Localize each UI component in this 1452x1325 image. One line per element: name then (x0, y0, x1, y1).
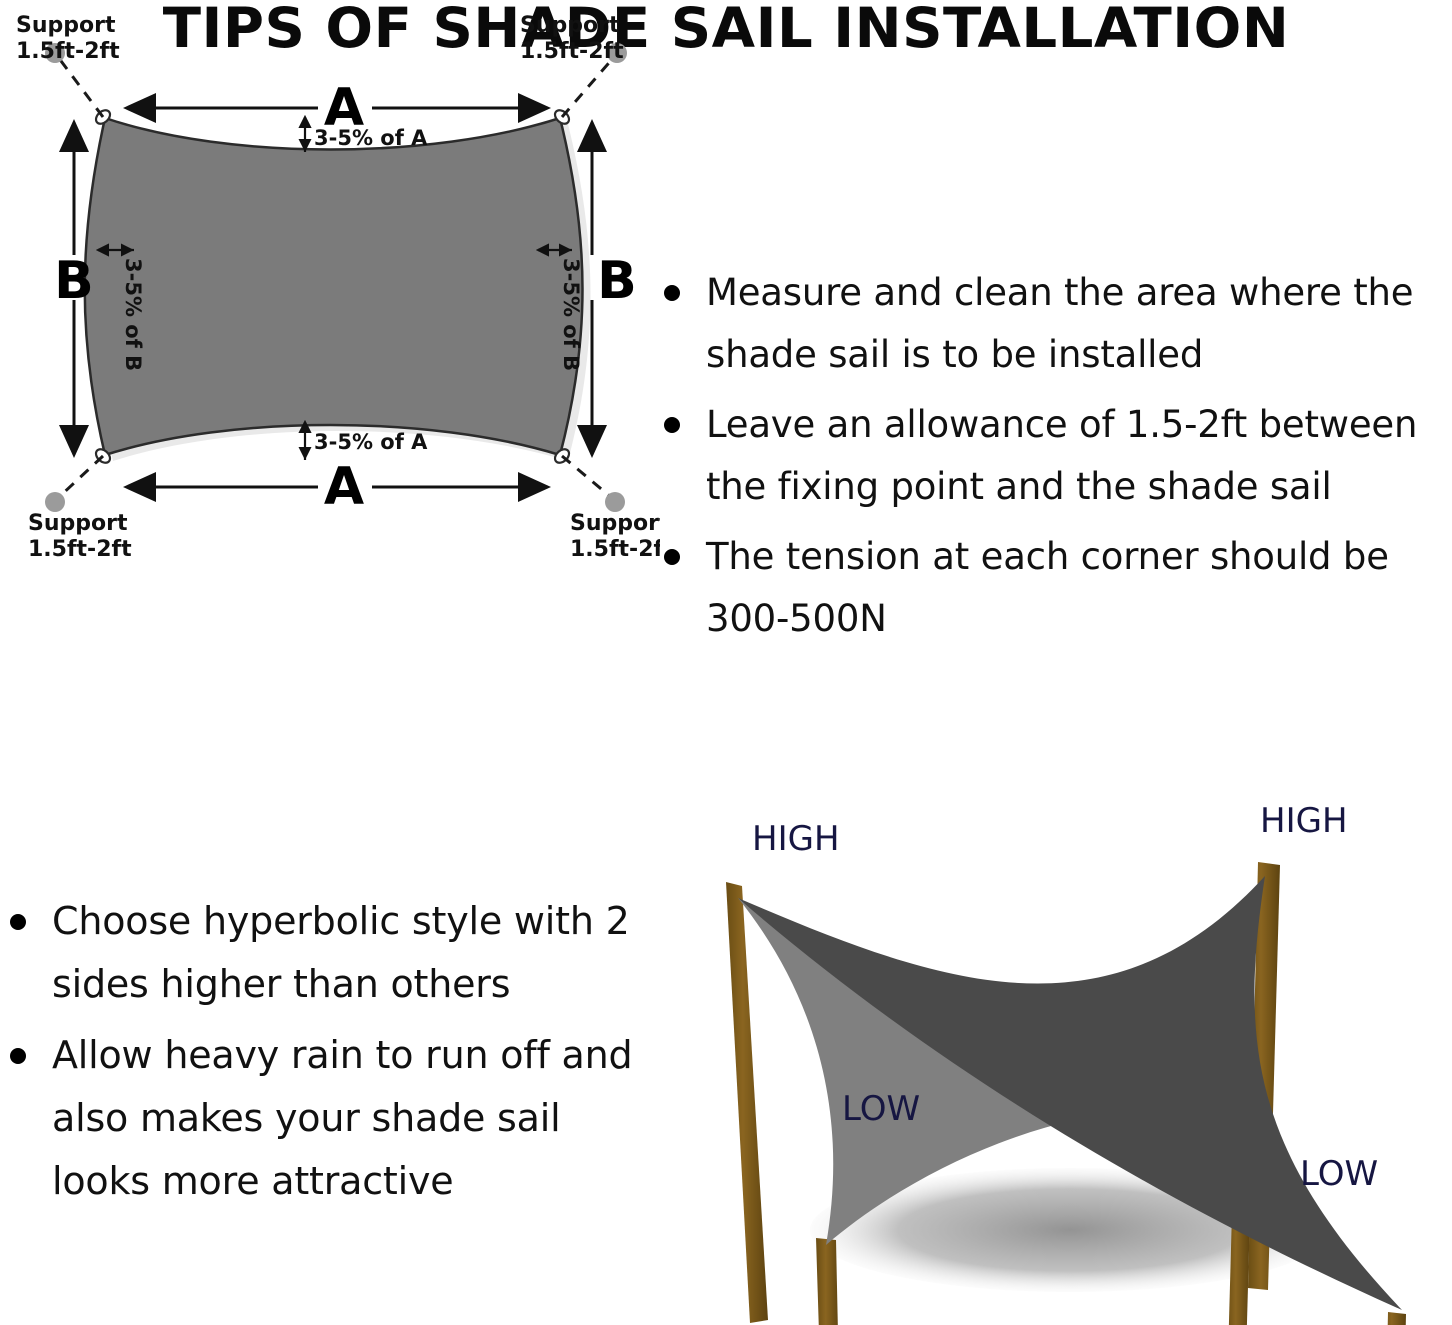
rect-diagram-svg: Support 1.5ft-2ft Support 1.5ft-2ft Supp… (0, 0, 660, 580)
sag-a-top-label: 3-5% of A (314, 126, 428, 150)
sag-b-right-label: 3-5% of B (559, 258, 583, 371)
label-high-right: HIGH (1260, 801, 1348, 841)
support-point-dot (605, 492, 625, 512)
bullet-dot-icon (664, 549, 680, 565)
list-item: Leave an allowance of 1.5-2ft between th… (648, 394, 1452, 518)
hyperbolic-sail-illustration: HIGH HIGH LOW LOW (640, 790, 1452, 1325)
tips-top-list: Measure and clean the area where the sha… (648, 262, 1452, 650)
infographic-page: TIPS OF SHADE SAIL INSTALLATION (0, 0, 1452, 1325)
support-line (58, 456, 103, 498)
list-item-text: Measure and clean the area where the sha… (706, 271, 1413, 376)
list-item-text: Choose hyperbolic style with 2 sides hig… (52, 899, 630, 1006)
installation-tips-top: Measure and clean the area where the sha… (648, 262, 1452, 658)
label-low-left: LOW (842, 1089, 920, 1129)
bullet-dot-icon (10, 1048, 26, 1064)
sail-3d-svg: HIGH HIGH LOW LOW (640, 790, 1452, 1325)
support-label-top-right-line1: Support (520, 13, 620, 38)
support-point-dot (45, 492, 65, 512)
sag-b-left-label: 3-5% of B (121, 258, 145, 371)
sail-shape-group (85, 118, 591, 461)
bullet-dot-icon (664, 417, 680, 433)
support-line (58, 57, 103, 117)
label-high-left: HIGH (752, 819, 840, 859)
label-low-right: LOW (1300, 1154, 1378, 1194)
rectangular-sail-diagram: Support 1.5ft-2ft Support 1.5ft-2ft Supp… (0, 0, 660, 580)
list-item-text: Allow heavy rain to run off and also mak… (52, 1033, 632, 1203)
support-label-bottom-left-line1: Support (28, 511, 128, 536)
dimension-a-bottom: A (126, 457, 548, 517)
support-label-bottom-right-line1: Support (570, 511, 660, 536)
support-line (562, 57, 614, 117)
pole-high-left (726, 882, 768, 1323)
bullet-dot-icon (664, 285, 680, 301)
list-item: Choose hyperbolic style with 2 sides hig… (0, 890, 640, 1016)
list-item-text: Leave an allowance of 1.5-2ft between th… (706, 403, 1417, 508)
support-label-top-right-line2: 1.5ft-2ft (520, 39, 624, 64)
installation-tips-bottom: Choose hyperbolic style with 2 sides hig… (0, 890, 640, 1221)
sail-fabric (85, 118, 583, 455)
list-item-text: The tension at each corner should be 300… (706, 535, 1389, 640)
list-item: Measure and clean the area where the sha… (648, 262, 1452, 386)
dim-a-bottom-label: A (324, 457, 364, 517)
support-label-top-left-line1: Support (16, 13, 116, 38)
dimension-b-right: B (592, 122, 637, 455)
dimension-b-left: B (54, 122, 94, 455)
bullet-dot-icon (10, 914, 26, 930)
list-item: The tension at each corner should be 300… (648, 526, 1452, 650)
dim-b-left-label: B (54, 251, 94, 311)
support-label-bottom-right-line2: 1.5ft-2ft (570, 537, 660, 562)
dim-b-right-label: B (597, 251, 637, 311)
tips-bottom-list: Choose hyperbolic style with 2 sides hig… (0, 890, 640, 1213)
sag-a-bottom-label: 3-5% of A (314, 430, 428, 454)
pole-low-right (1382, 1312, 1406, 1325)
list-item: Allow heavy rain to run off and also mak… (0, 1024, 640, 1213)
support-label-top-left-line2: 1.5ft-2ft (16, 39, 120, 64)
support-line (562, 456, 612, 498)
support-label-bottom-left-line2: 1.5ft-2ft (28, 537, 132, 562)
